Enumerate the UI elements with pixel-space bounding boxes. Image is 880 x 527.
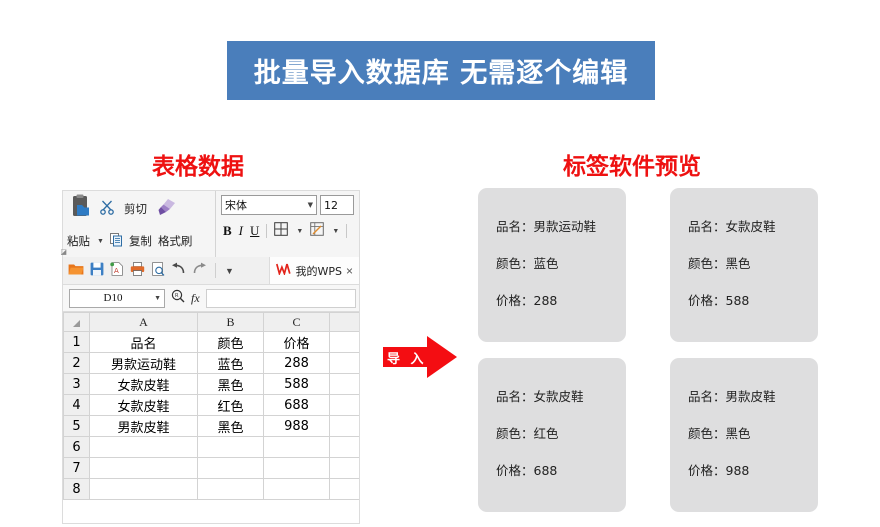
italic-button[interactable]: I <box>239 223 243 239</box>
banner-title: 批量导入数据库 无需逐个编辑 <box>254 51 628 90</box>
import-arrow-label: 导 入 <box>387 348 427 367</box>
toolbar-divider <box>266 224 267 238</box>
label-color: 颜色：蓝色 <box>496 253 626 272</box>
title-banner: 批量导入数据库 无需逐个编辑 <box>227 41 655 100</box>
row-header[interactable]: 1 <box>64 332 90 353</box>
cell-c5[interactable]: 988 <box>264 416 330 437</box>
redo-icon[interactable] <box>192 262 207 279</box>
print-preview-icon[interactable] <box>151 262 165 280</box>
qat-chevron-down-icon[interactable]: ▼ <box>225 266 234 276</box>
table-row: 2 男款运动鞋 蓝色 288 <box>64 353 361 374</box>
grid-body: 1 品名 颜色 价格 2 男款运动鞋 蓝色 288 3 女款皮鞋 黑色 <box>64 332 361 500</box>
table-row: 4 女款皮鞋 红色 688 <box>64 395 361 416</box>
table-row: 7 <box>64 458 361 479</box>
column-header-d[interactable] <box>330 313 361 332</box>
document-tab-label: 我的WPS <box>295 263 342 279</box>
label-color: 颜色：黑色 <box>688 423 818 442</box>
label-color: 颜色：红色 <box>496 423 626 442</box>
scissors-cut-icon[interactable] <box>100 200 115 219</box>
clipboard-icon[interactable] <box>69 194 91 224</box>
table-row: 6 <box>64 437 361 458</box>
label-price: 价格：588 <box>688 290 818 309</box>
label-color: 颜色：黑色 <box>688 253 818 272</box>
svg-text:A: A <box>114 267 119 275</box>
cell-d1[interactable] <box>330 332 361 353</box>
label-name: 品名：女款皮鞋 <box>688 216 818 235</box>
table-row: 1 品名 颜色 价格 <box>64 332 361 353</box>
row-header[interactable]: 8 <box>64 479 90 500</box>
cell-b7[interactable] <box>198 458 264 479</box>
label-price: 价格：288 <box>496 290 626 309</box>
row-header[interactable]: 5 <box>64 416 90 437</box>
table-row: 5 男款皮鞋 黑色 988 <box>64 416 361 437</box>
column-header-b[interactable]: B <box>198 313 264 332</box>
column-header-row: A B C <box>64 313 361 332</box>
paste-chevron-down-icon[interactable]: ▼ <box>97 238 104 245</box>
copy-label[interactable]: 复制 <box>129 233 152 249</box>
cell-b3[interactable]: 黑色 <box>198 374 264 395</box>
cell-d3[interactable] <box>330 374 361 395</box>
row-header[interactable]: 3 <box>64 374 90 395</box>
cell-a8[interactable] <box>90 479 198 500</box>
cell-c2[interactable]: 288 <box>264 353 330 374</box>
label-card[interactable]: 品名：女款皮鞋 颜色：红色 价格：688 <box>478 358 626 512</box>
format-painter-label[interactable]: 格式刷 <box>158 233 193 249</box>
column-header-c[interactable]: C <box>264 313 330 332</box>
quick-access-toolbar: A <box>62 257 360 284</box>
row-header[interactable]: 2 <box>64 353 90 374</box>
cell-b4[interactable]: 红色 <box>198 395 264 416</box>
bold-button[interactable]: B <box>223 223 232 239</box>
import-arrow: 导 入 <box>383 336 457 378</box>
save-icon[interactable] <box>90 262 104 280</box>
cell-c7[interactable] <box>264 458 330 479</box>
label-price: 价格：688 <box>496 460 626 479</box>
label-card[interactable]: 品名：女款皮鞋 颜色：黑色 价格：588 <box>670 188 818 342</box>
clipboard-dialog-launcher-icon[interactable]: ◪ <box>60 248 67 256</box>
label-name: 品名：男款皮鞋 <box>688 386 818 405</box>
row-header[interactable]: 7 <box>64 458 90 479</box>
cell-style-icon[interactable] <box>310 222 324 240</box>
cell-c8[interactable] <box>264 479 330 500</box>
cell-d8[interactable] <box>330 479 361 500</box>
select-all-corner[interactable] <box>64 313 90 332</box>
cell-a3[interactable]: 女款皮鞋 <box>90 374 198 395</box>
font-chevron-down-icon[interactable]: ▼ <box>308 201 313 209</box>
cell-style-chevron-down-icon[interactable]: ▼ <box>332 228 339 235</box>
open-folder-icon[interactable] <box>68 262 84 280</box>
search-function-icon[interactable]: R <box>171 289 185 307</box>
cell-d2[interactable] <box>330 353 361 374</box>
toolbar-divider-2 <box>346 224 347 238</box>
cell-b1[interactable]: 颜色 <box>198 332 264 353</box>
cell-c3[interactable]: 588 <box>264 374 330 395</box>
formula-bar: D10 ▼ R fx <box>62 284 360 312</box>
font-size-select[interactable]: 12 <box>320 195 354 215</box>
underline-button[interactable]: U <box>250 223 259 239</box>
cell-a2[interactable]: 男款运动鞋 <box>90 353 198 374</box>
label-card[interactable]: 品名：男款皮鞋 颜色：黑色 价格：988 <box>670 358 818 512</box>
svg-text:R: R <box>175 293 179 299</box>
wps-logo-icon <box>276 263 291 279</box>
qat-divider <box>215 263 216 278</box>
cell-c4[interactable]: 688 <box>264 395 330 416</box>
grid-table: A B C 1 品名 颜色 价格 2 男款运动鞋 蓝色 <box>63 312 360 500</box>
label-name: 品名：男款运动鞋 <box>496 216 626 235</box>
cell-a7[interactable] <box>90 458 198 479</box>
ribbon-toolbar: 剪切 粘贴 ▼ <box>62 190 360 257</box>
label-card[interactable]: 品名：男款运动鞋 颜色：蓝色 价格：288 <box>478 188 626 342</box>
cell-c6[interactable] <box>264 437 330 458</box>
format-painter-icon[interactable] <box>156 198 176 220</box>
export-pdf-icon[interactable]: A <box>110 262 124 280</box>
label-price: 价格：988 <box>688 460 818 479</box>
cell-c1[interactable]: 价格 <box>264 332 330 353</box>
section-heading-table-data: 表格数据 <box>152 147 244 181</box>
cell-a1[interactable]: 品名 <box>90 332 198 353</box>
font-group: 宋体 ▼ 12 B I U ▼ <box>216 191 359 257</box>
row-header[interactable]: 6 <box>64 437 90 458</box>
name-box-value: D10 <box>73 292 153 304</box>
cell-a4[interactable]: 女款皮鞋 <box>90 395 198 416</box>
cell-d4[interactable] <box>330 395 361 416</box>
fx-icon[interactable]: fx <box>191 291 200 306</box>
cell-d6[interactable] <box>330 437 361 458</box>
print-icon[interactable] <box>130 262 145 280</box>
table-row: 8 <box>64 479 361 500</box>
borders-chevron-down-icon[interactable]: ▼ <box>296 228 303 235</box>
cell-a5[interactable]: 男款皮鞋 <box>90 416 198 437</box>
cut-label[interactable]: 剪切 <box>124 201 147 217</box>
document-tab[interactable]: 我的WPS × <box>269 257 359 284</box>
row-header[interactable]: 4 <box>64 395 90 416</box>
undo-icon[interactable] <box>171 262 186 279</box>
copy-icon[interactable] <box>110 233 123 250</box>
section-heading-label-preview: 标签软件预览 <box>563 147 701 181</box>
table-row: 3 女款皮鞋 黑色 588 <box>64 374 361 395</box>
cell-b5[interactable]: 黑色 <box>198 416 264 437</box>
column-header-a[interactable]: A <box>90 313 198 332</box>
cell-d7[interactable] <box>330 458 361 479</box>
cell-d5[interactable] <box>330 416 361 437</box>
cell-b6[interactable] <box>198 437 264 458</box>
name-box-chevron-down-icon[interactable]: ▼ <box>154 295 161 302</box>
font-family-select[interactable]: 宋体 ▼ <box>221 195 317 215</box>
close-icon[interactable]: × <box>346 264 353 278</box>
borders-icon[interactable] <box>274 222 288 240</box>
font-size-value: 12 <box>324 199 338 212</box>
cell-a6[interactable] <box>90 437 198 458</box>
label-name: 品名：女款皮鞋 <box>496 386 626 405</box>
cell-b2[interactable]: 蓝色 <box>198 353 264 374</box>
clipboard-group: 剪切 粘贴 ▼ <box>63 191 216 257</box>
name-box[interactable]: D10 ▼ <box>69 289 165 308</box>
paste-label[interactable]: 粘贴 <box>67 233 90 249</box>
formula-input[interactable] <box>206 289 356 308</box>
spreadsheet-grid[interactable]: A B C 1 品名 颜色 价格 2 男款运动鞋 蓝色 <box>62 312 360 524</box>
font-family-value: 宋体 <box>225 197 247 213</box>
spreadsheet-panel: 剪切 粘贴 ▼ <box>62 190 360 522</box>
cell-b8[interactable] <box>198 479 264 500</box>
